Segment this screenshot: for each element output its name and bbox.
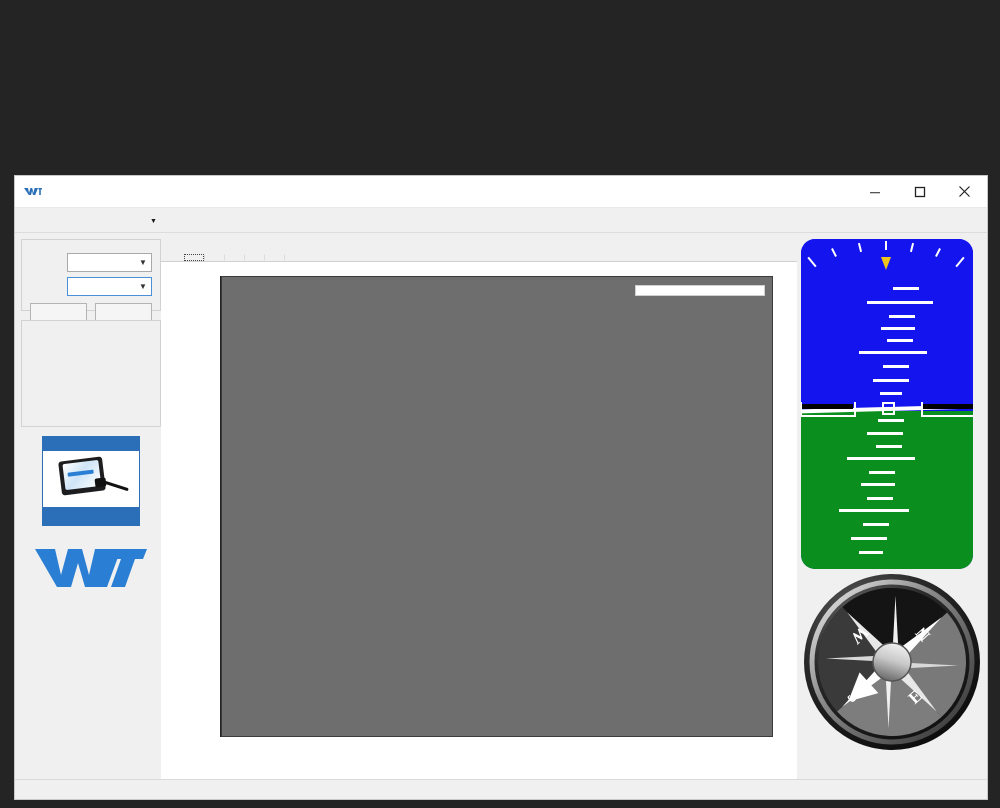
pitch-tick-g1: [878, 419, 904, 422]
instrument-panel: N E S W: [797, 233, 987, 779]
compass-rose: N E S W: [803, 573, 981, 751]
tab-magnetic-field[interactable]: [244, 254, 264, 261]
pitch-tick-g2: [867, 432, 903, 435]
window-body: ▼ ▼: [15, 233, 987, 779]
menu-bar: ▼: [15, 208, 987, 233]
chevron-down-icon: ▼: [135, 282, 151, 291]
chart-panel: [161, 233, 797, 779]
device-image-topbar: [43, 437, 139, 451]
baud-field-row: ▼: [30, 277, 152, 296]
pitch-tick-g11: [859, 551, 883, 554]
sensor-box-shape: [58, 456, 106, 495]
pitch-tick-s3: [889, 315, 915, 318]
attitude-indicator: [801, 239, 973, 569]
series-lines: [222, 277, 772, 736]
pitch-tick-g10: [851, 537, 887, 540]
legend-swatch-z: [728, 289, 750, 292]
tab-raw-data[interactable]: [284, 254, 304, 261]
pitch-tick-s8: [873, 379, 909, 382]
baud-select[interactable]: ▼: [67, 277, 152, 296]
device-image-caption: [43, 507, 139, 525]
tab-angle[interactable]: [224, 254, 244, 261]
pitch-tick-s9: [880, 392, 902, 395]
pitch-tick-s7: [883, 365, 909, 368]
pitch-tick-s6-major: [859, 351, 927, 354]
pitch-tick-s1: [893, 287, 919, 290]
pitch-tick-g4-major: [847, 457, 915, 460]
title-bar: [15, 176, 987, 208]
pitch-tick-s5: [887, 339, 913, 342]
application-window: ▼ ▼ ▼: [14, 175, 988, 800]
pitch-tick-g7: [867, 497, 893, 500]
chevron-down-icon: ▼: [135, 258, 151, 267]
port-group: ▼ ▼: [21, 239, 161, 311]
roll-pointer-icon: [881, 257, 891, 270]
tab-angular-velocity[interactable]: [204, 254, 224, 261]
chart-legend: [635, 285, 765, 296]
sidebar: ▼ ▼: [15, 233, 161, 779]
maximize-button[interactable]: [897, 176, 942, 207]
pitch-tick-g5: [869, 471, 895, 474]
wit-brand-logo: [35, 540, 147, 595]
port-select[interactable]: ▼: [67, 253, 152, 272]
tab-data[interactable]: [264, 254, 284, 261]
tab-main[interactable]: [164, 254, 184, 261]
legend-item-x[interactable]: [644, 289, 672, 292]
aircraft-center-marker: [882, 402, 895, 415]
pitch-tick-s4: [881, 327, 915, 330]
pitch-tick-s2-major: [867, 301, 933, 304]
menu-item-help[interactable]: ▼: [145, 217, 157, 224]
wit-logo-icon: [24, 185, 42, 199]
tab-acceleration[interactable]: [184, 254, 204, 261]
port-field-row: ▼: [30, 253, 152, 272]
roll-tick-0: [885, 241, 887, 250]
aircraft-wing-left-outline: [801, 402, 856, 417]
pitch-tick-g6: [861, 483, 895, 486]
tab-strip: [161, 239, 797, 262]
legend-item-y[interactable]: [686, 289, 714, 292]
pitch-tick-g9: [863, 523, 889, 526]
aircraft-wing-right-outline: [921, 402, 973, 417]
legend-item-z[interactable]: [728, 289, 756, 292]
acceleration-chart[interactable]: [161, 262, 797, 779]
device-product-image: [42, 436, 140, 526]
legend-swatch-x: [644, 289, 666, 292]
pitch-tick-g8-major: [839, 509, 909, 512]
type-group: [21, 320, 161, 427]
status-bar: [15, 779, 987, 799]
pitch-tick-g3: [876, 445, 902, 448]
device-image-body: [43, 451, 139, 507]
plot-area: [221, 276, 773, 737]
promo-banner: [0, 0, 1000, 168]
chevron-down-icon: ▼: [150, 218, 157, 225]
minimize-button[interactable]: [852, 176, 897, 207]
legend-swatch-y: [686, 289, 708, 292]
close-button[interactable]: [942, 176, 987, 207]
